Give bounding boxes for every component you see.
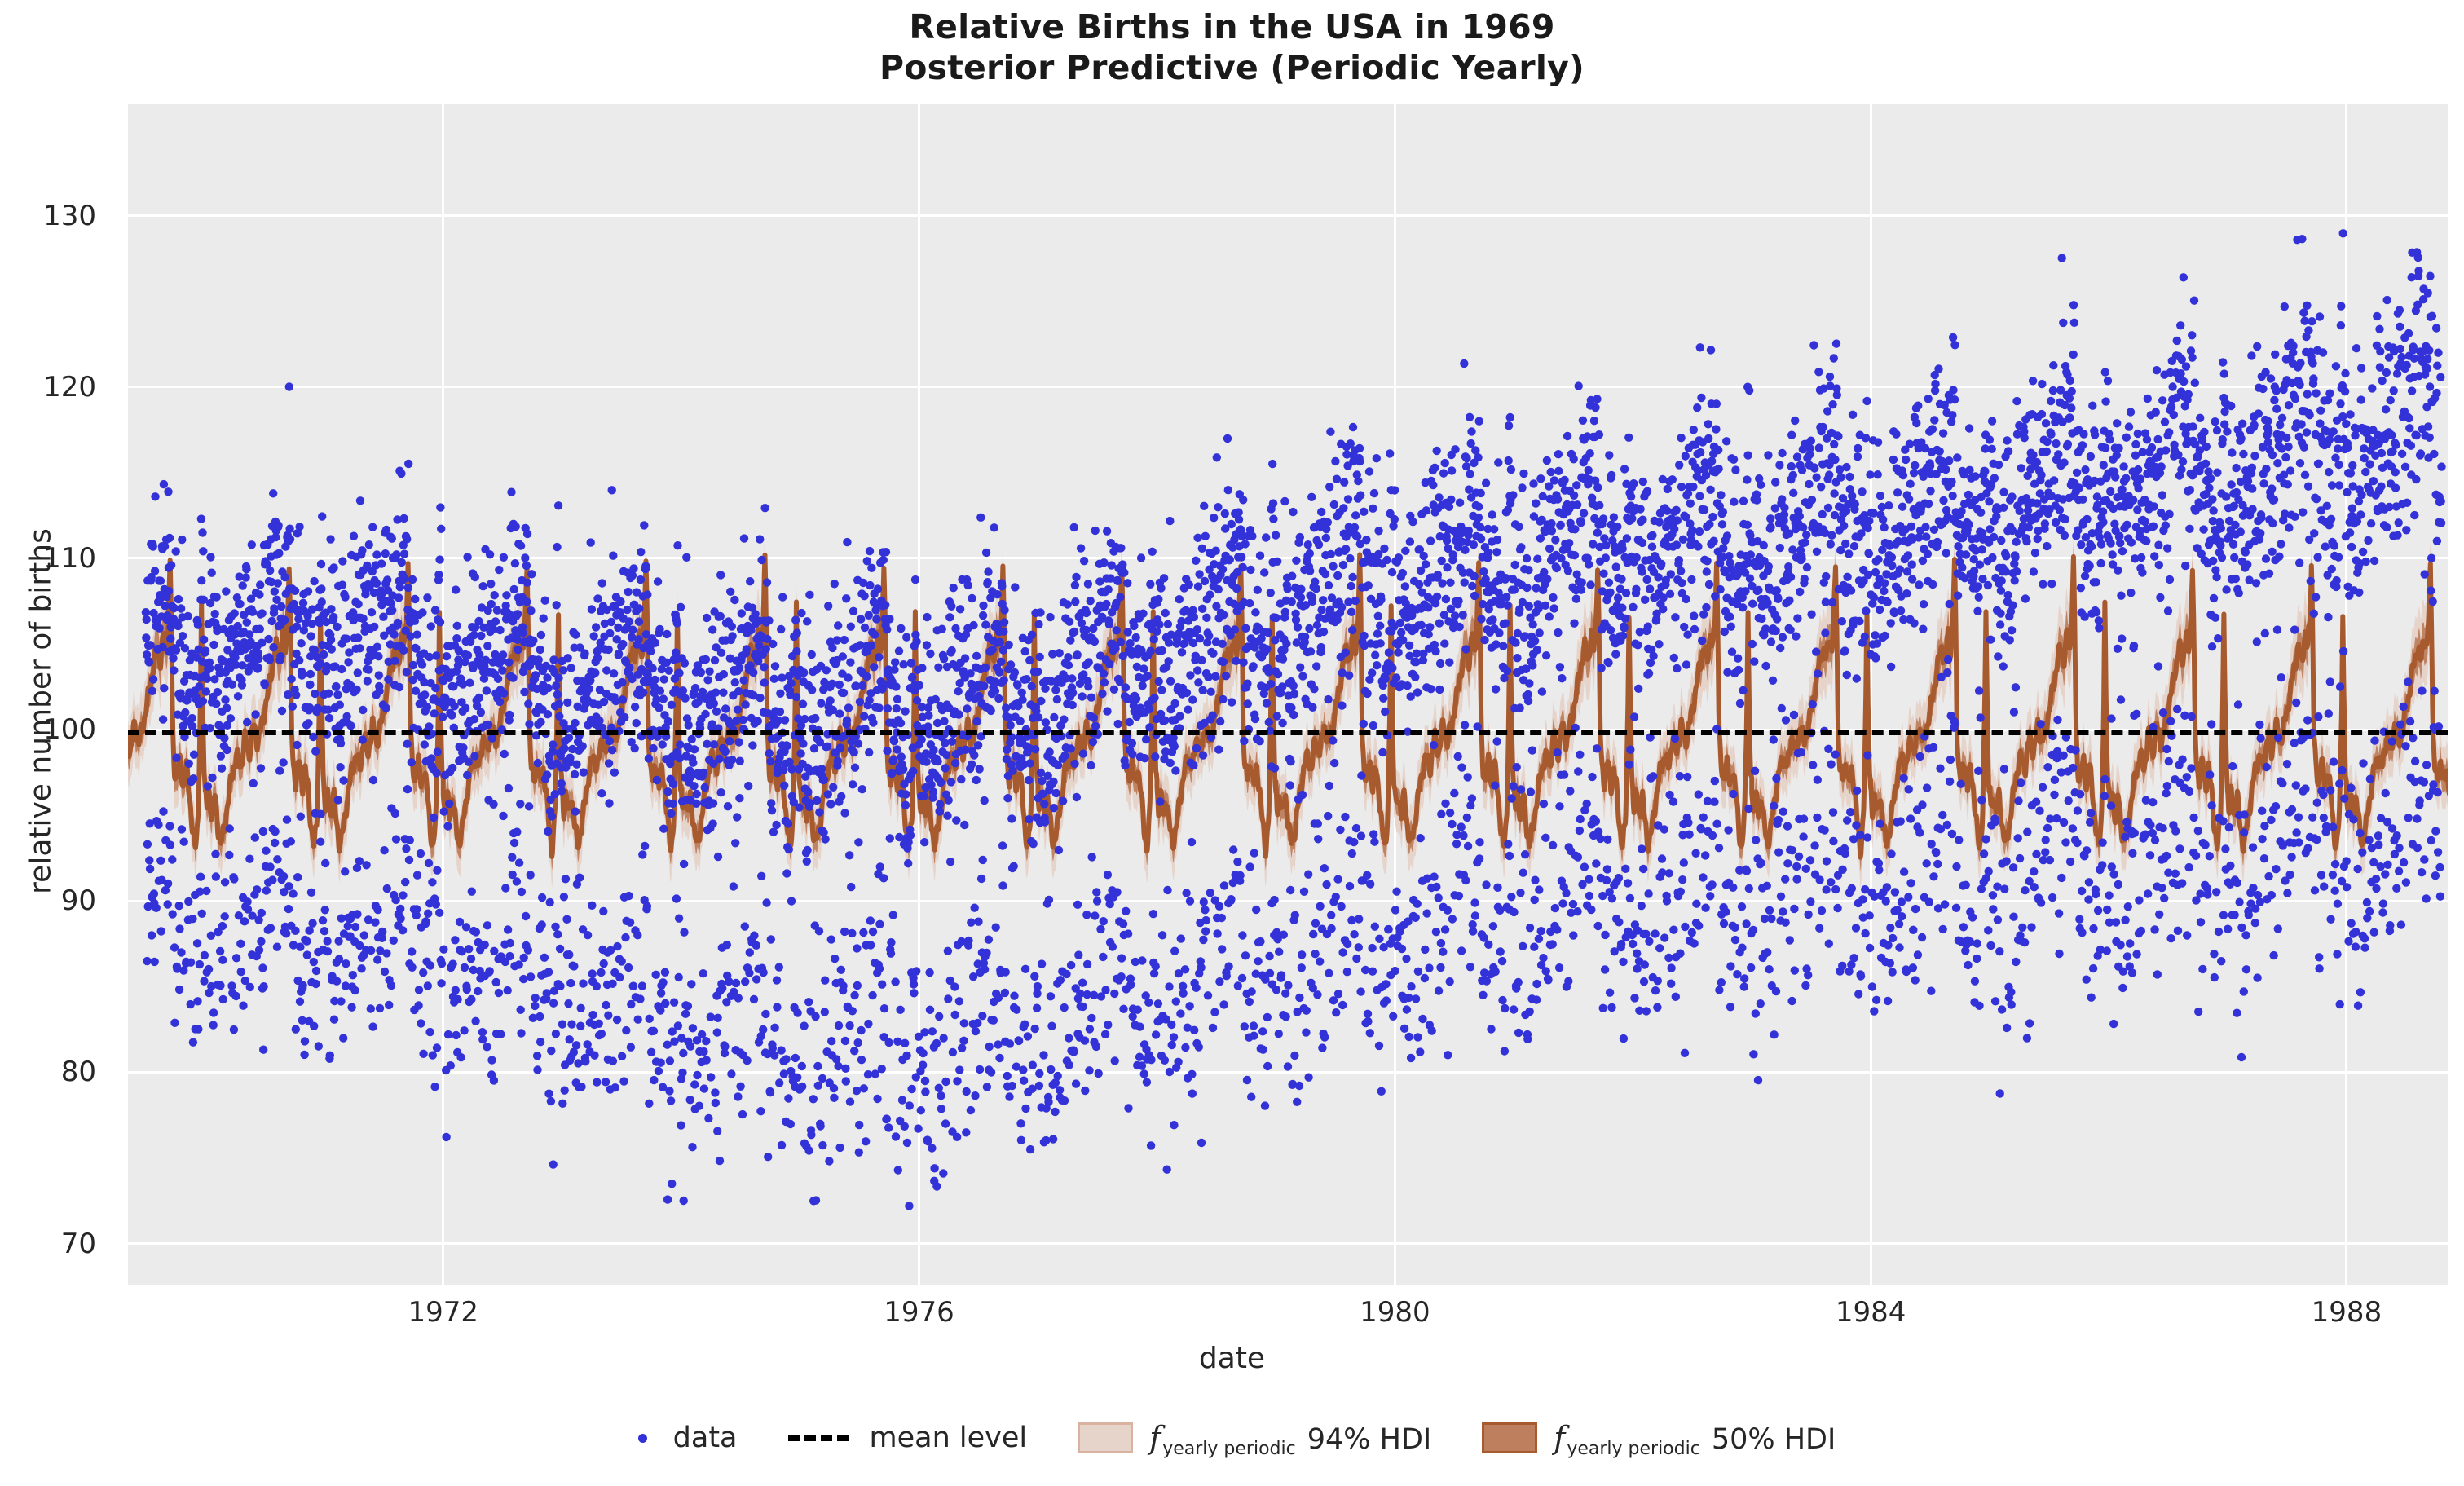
chart-figure: Relative Births in the USA in 1969 Poste…: [0, 0, 2464, 1486]
